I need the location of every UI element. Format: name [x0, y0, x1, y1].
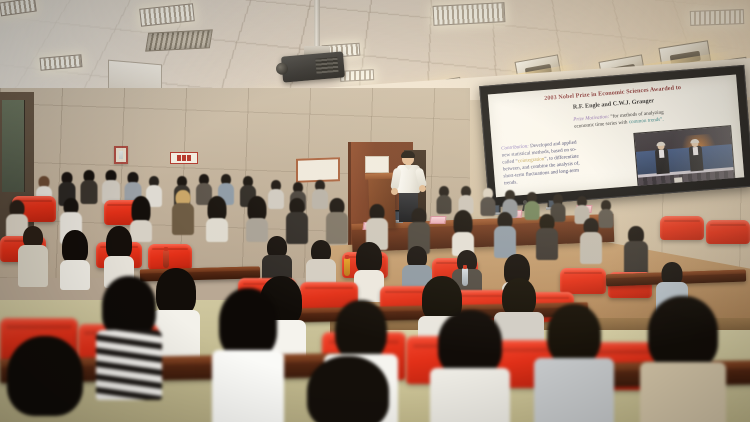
seat-cushion [660, 216, 704, 240]
audience-member [580, 218, 602, 260]
audience-member [436, 186, 451, 212]
projector-lens-icon [276, 62, 289, 75]
louver-light-panel [340, 69, 375, 82]
audience-member [286, 198, 308, 240]
audience-member [452, 210, 474, 252]
audience-member [408, 208, 430, 250]
audience-member [246, 196, 268, 238]
audience-member [18, 226, 48, 282]
audience-member [96, 276, 162, 394]
door-notice [365, 156, 389, 173]
framed-wall-notice [296, 157, 340, 183]
presenter-hair [401, 151, 415, 158]
audience-member [624, 226, 648, 272]
audience-member [60, 230, 90, 286]
presenter-left-hand [391, 188, 398, 195]
louver-light-panel [433, 2, 506, 26]
presentation-slide: 2003 Nobel Prize in Economic Sciences Aw… [488, 75, 744, 198]
name-card [429, 216, 446, 224]
fire-equipment-cabinet[interactable] [114, 146, 128, 164]
audience-member [480, 188, 495, 214]
contribution-line-6: trends. [504, 179, 518, 186]
lecture-hall-photo: 2003 Nobel Prize in Economic Sciences Aw… [0, 0, 750, 422]
seat-cushion [560, 268, 606, 294]
emergency-sign [170, 152, 198, 164]
projector-vent [315, 57, 338, 74]
drink-bottle [344, 258, 350, 276]
audience-member [458, 186, 473, 212]
audience-member [366, 204, 388, 246]
audience-member [80, 170, 97, 202]
photo-camera-flash [674, 177, 682, 183]
audience-member [640, 296, 726, 422]
ceiling-projector [281, 51, 345, 82]
audience-member [0, 336, 90, 422]
photo-laureate-right [687, 139, 704, 171]
audience-member [102, 170, 120, 202]
audience-member [300, 356, 396, 422]
projection-screen: 2003 Nobel Prize in Economic Sciences Aw… [479, 65, 750, 208]
audience-member [534, 304, 614, 422]
photo-laureate-left [653, 142, 670, 174]
laureate-names: R.F. Engle and C.W.J. Granger [573, 98, 655, 111]
audience-member [536, 214, 558, 256]
audience-member [430, 310, 510, 422]
audience-member [268, 180, 284, 208]
drink-bottle [163, 250, 169, 268]
audience-member [212, 288, 284, 422]
audience-member [494, 212, 516, 254]
seat-cushion [706, 220, 750, 244]
audience-member [172, 190, 194, 232]
left-side-door[interactable] [2, 100, 25, 192]
audience-member [206, 196, 228, 238]
presenter-right-hand [419, 185, 426, 192]
slide-contribution: Contribution: Developed and applied new … [501, 136, 627, 187]
air-conditioning-vent-icon [145, 29, 213, 51]
louver-light-panel [690, 9, 744, 26]
seat-cushion [148, 244, 192, 270]
projector-mount-pole [314, 0, 320, 50]
audience-member [326, 198, 348, 240]
